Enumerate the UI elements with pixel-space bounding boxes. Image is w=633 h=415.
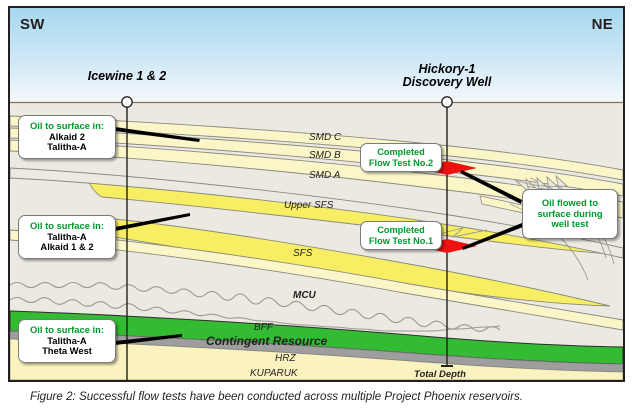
figure-page: SW NE Icewine 1 & 2 Hickory-1 Discovery …	[0, 0, 633, 415]
wellhead-marker-icewine	[122, 97, 132, 107]
figure-caption: Figure 2: Successful flow tests have bee…	[30, 390, 610, 403]
flow-test-1-line2: Flow Test No.1	[369, 236, 433, 246]
callout-flow-test-1[interactable]: Completed Flow Test No.1	[360, 221, 442, 250]
cross-section-figure: SW NE Icewine 1 & 2 Hickory-1 Discovery …	[8, 6, 625, 382]
flow-test-2-line1: Completed	[377, 147, 424, 157]
oil-flowed-line3: well test	[552, 219, 589, 230]
callout-1-line2: Talitha-A	[47, 142, 86, 153]
callout-oil-to-surface-2[interactable]: Oil to surface in: Talitha-A Alkaid 1 & …	[18, 215, 116, 259]
wellhead-marker-hickory	[442, 97, 452, 107]
callout-2-line2: Alkaid 1 & 2	[40, 242, 93, 253]
callout-oil-to-surface-1[interactable]: Oil to surface in: Alkaid 2 Talitha-A	[18, 115, 116, 159]
callout-3-line2: Theta West	[42, 346, 92, 357]
flow-test-1-line1: Completed	[377, 225, 424, 235]
callout-oil-flowed-well-test[interactable]: Oil flowed to surface during well test	[522, 189, 618, 239]
flow-test-2-line2: Flow Test No.2	[369, 158, 433, 168]
sky-band	[10, 8, 623, 102]
callout-flow-test-2[interactable]: Completed Flow Test No.2	[360, 143, 442, 172]
callout-oil-to-surface-3[interactable]: Oil to surface in: Talitha-A Theta West	[18, 319, 116, 363]
